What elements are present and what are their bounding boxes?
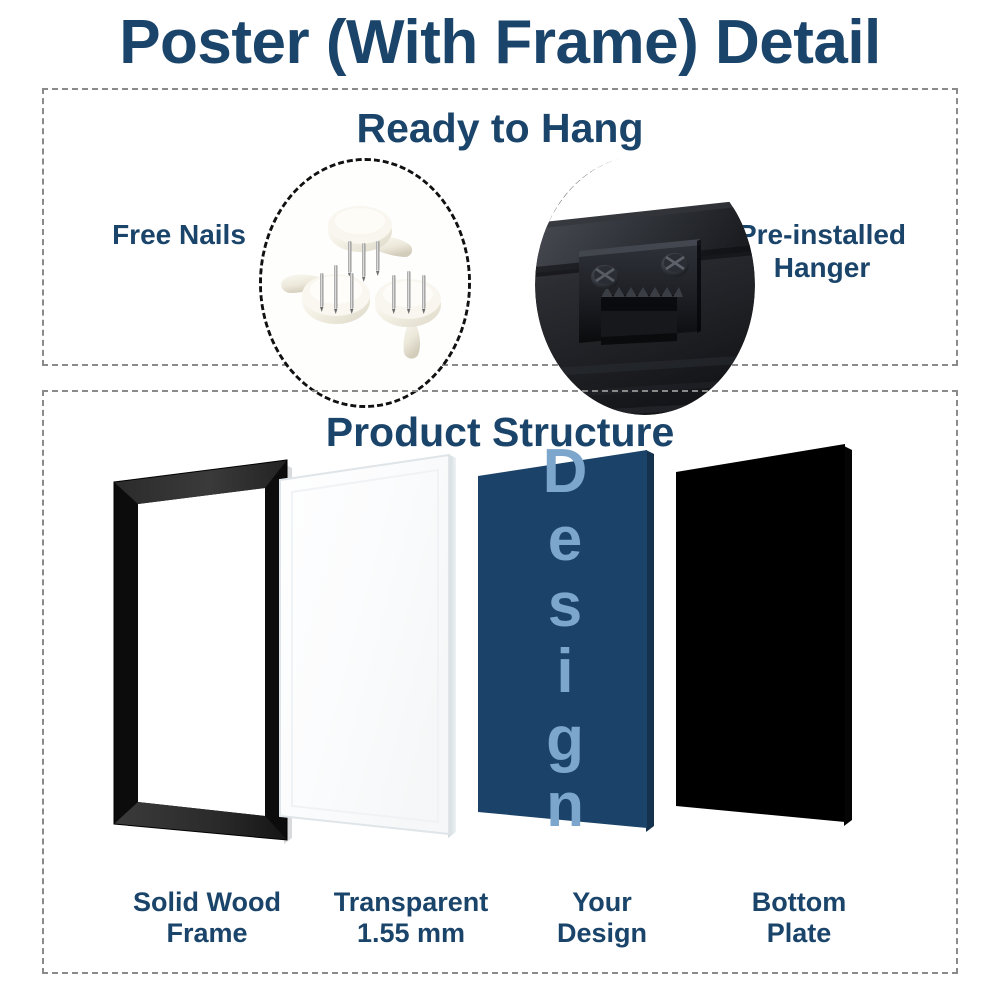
design-letter-4: g [546, 705, 584, 774]
pre-installed-hanger-photo [535, 155, 755, 415]
panel-transparent-sheet [280, 454, 456, 838]
panel-solid-wood-frame [114, 460, 292, 844]
hanger-illustration [535, 155, 755, 415]
poster-detail-infographic: Poster (With Frame) Detail Ready to Hang… [0, 0, 1000, 1000]
design-letter-2: s [548, 571, 582, 640]
caption-your-design: Your Design [492, 887, 712, 949]
free-nails-photo-oval [259, 158, 471, 408]
design-letter-0: D [543, 437, 588, 506]
section-title-ready-to-hang: Ready to Hang [44, 104, 956, 152]
free-nails-illustration [262, 161, 468, 405]
design-letter-1: e [548, 505, 582, 574]
caption-your-design-line2: Design [492, 918, 712, 949]
section-ready-to-hang: Ready to Hang Free Nails Pre-installed H… [42, 88, 958, 366]
label-free-nails: Free Nails [74, 218, 284, 251]
caption-bottom-plate-line1: Bottom [689, 887, 909, 918]
caption-bottom-plate-line2: Plate [689, 918, 909, 949]
section-product-structure: Product Structure [42, 390, 958, 974]
page-title: Poster (With Frame) Detail [0, 8, 1000, 78]
design-letter-5: n [546, 771, 584, 840]
hanger-screw-left [591, 265, 619, 289]
hanger-screw-right [661, 253, 689, 277]
caption-bottom-plate: Bottom Plate [689, 887, 909, 949]
panel-bottom-plate [676, 444, 852, 826]
pre-installed-hanger-photo-oval [536, 156, 748, 408]
panel-your-design: D e s i g n [478, 437, 654, 840]
design-vertical-text: D e s i g n [543, 437, 588, 840]
design-letter-3: i [556, 637, 573, 706]
caption-your-design-line1: Your [492, 887, 712, 918]
free-nails-photo [262, 161, 468, 405]
